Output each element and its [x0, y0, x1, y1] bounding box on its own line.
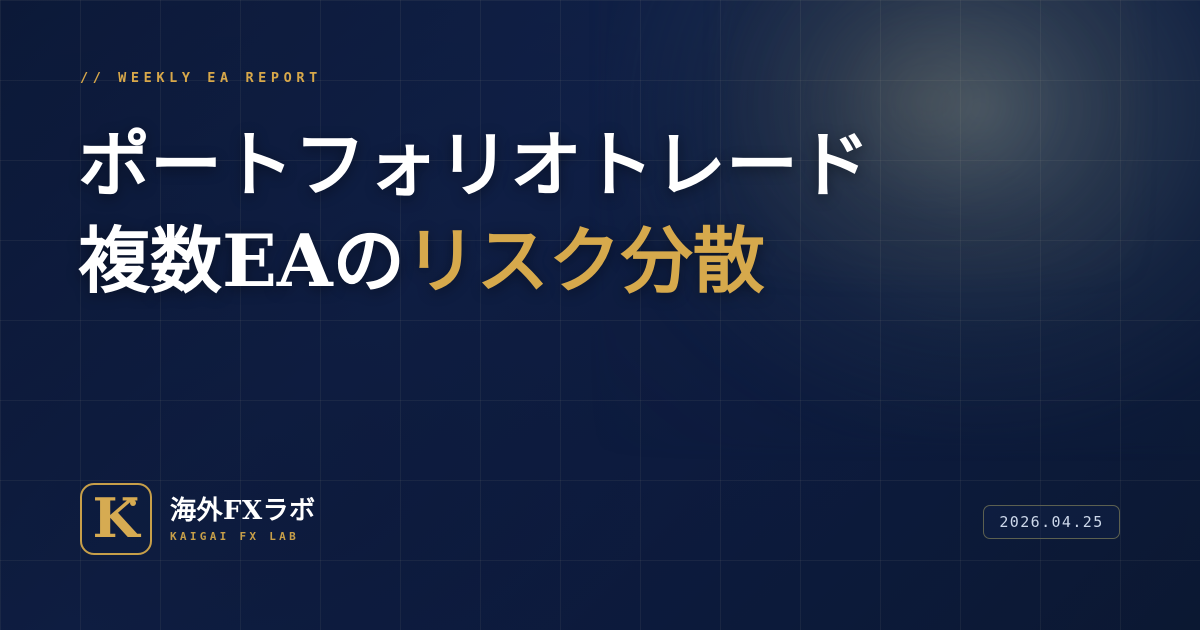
eyebrow-label: // WEEKLY EA REPORT: [80, 70, 322, 86]
logo-letter-k: K: [82, 491, 150, 545]
headline-line-2: 複数EAのリスク分散: [78, 213, 870, 309]
brand-romaji: KAIGAI FX LAB: [170, 530, 316, 543]
eyecatch-card: // WEEKLY EA REPORT ポートフォリオトレード 複数EAのリスク…: [0, 0, 1200, 630]
date-badge: 2026.04.25: [983, 505, 1120, 539]
logo-dot-icon: [130, 500, 136, 506]
headline-line-1: ポートフォリオトレード: [78, 117, 870, 213]
brand-name: 海外FXラボ: [170, 496, 316, 526]
logo-mark: K: [80, 483, 152, 555]
page-title: ポートフォリオトレード 複数EAのリスク分散: [78, 117, 870, 309]
headline-line-2-accent: リスク分散: [405, 218, 765, 303]
card-content: // WEEKLY EA REPORT ポートフォリオトレード 複数EAのリスク…: [0, 0, 1200, 630]
brand-text-block: 海外FXラボ KAIGAI FX LAB: [170, 496, 316, 543]
brand-lockup: K 海外FXラボ KAIGAI FX LAB: [80, 483, 316, 555]
headline-line-2-white: 複数EAの: [78, 218, 405, 303]
date-badge-value: 2026.04.25: [999, 513, 1103, 531]
